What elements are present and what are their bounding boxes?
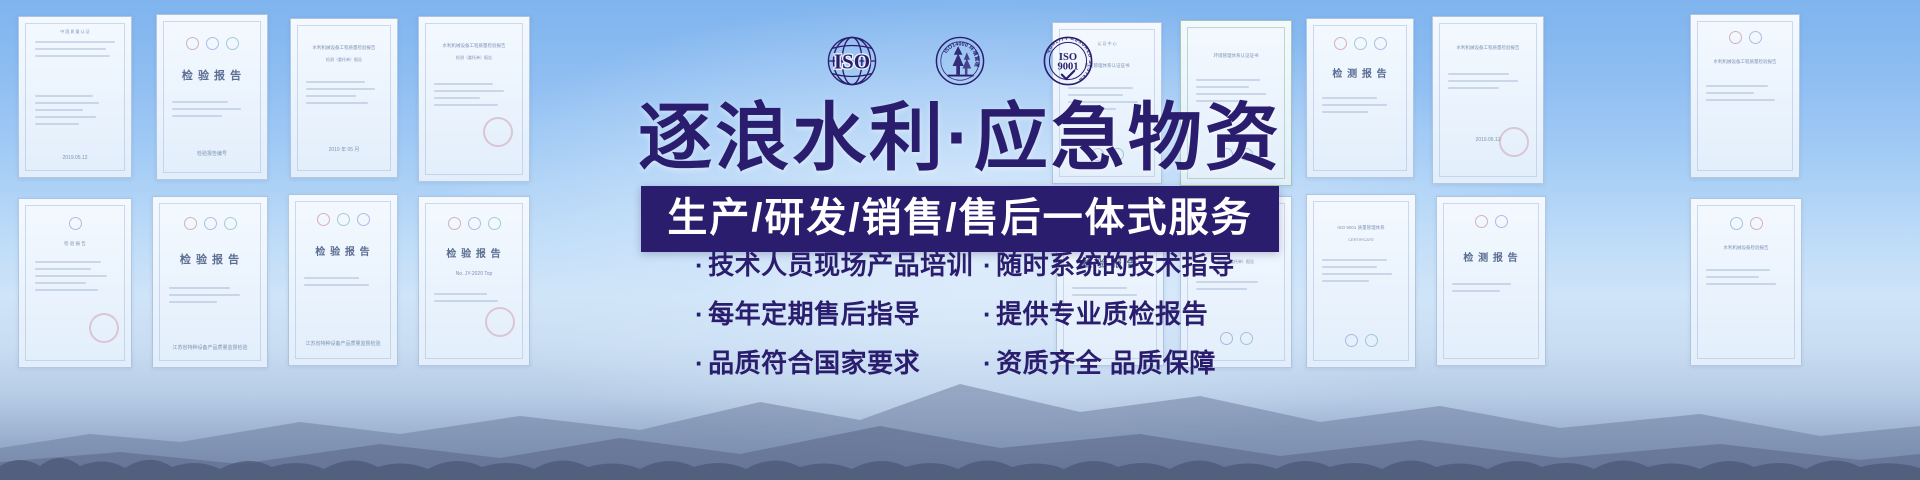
svg-text:ISO: ISO [834,49,870,73]
feature-item: ·技术人员现场产品培训 [695,248,967,282]
feature-label: 技术人员现场产品培训 [708,250,973,280]
feature-item: ·随时系统的技术指导 [983,248,1225,282]
bullet-icon: · [983,299,992,329]
iso-globe-logo-icon: ISO [821,30,883,92]
feature-item: ·每年定期售后指导 [695,297,967,331]
iso9001-quality-seal-logo-icon: QUALITY ASSURED SYSTEM ISO 9001 [1037,30,1099,92]
feature-label: 品质符合国家要求 [708,348,920,378]
bullet-icon: · [695,348,704,378]
svg-text:9001: 9001 [1057,62,1078,73]
iso14000-environment-logo-icon: ISO14000 环境管理 [929,30,991,92]
feature-item: ·品质符合国家要求 [695,346,967,380]
banner-title: 逐浪水利·应急物资 [0,96,1920,180]
bullet-icon: · [983,348,992,378]
feature-item: ·提供专业质检报告 [983,297,1225,331]
banner-subtitle-bar: 生产/研发/销售/售后一体式服务 [0,186,1920,252]
feature-list: ·技术人员现场产品培训 ·随时系统的技术指导 ·每年定期售后指导 ·提供专业质检… [0,248,1920,380]
bullet-icon: · [695,250,704,280]
feature-label: 每年定期售后指导 [708,299,920,329]
feature-label: 随时系统的技术指导 [996,250,1235,280]
certification-logo-row: ISO ISO14000 环境管理 [0,30,1920,92]
bullet-icon: · [695,299,704,329]
banner-subtitle: 生产/研发/销售/售后一体式服务 [641,186,1278,252]
feature-label: 资质齐全 品质保障 [996,348,1216,378]
bullet-icon: · [983,250,992,280]
feature-item: ·资质齐全 品质保障 [983,346,1225,380]
feature-label: 提供专业质检报告 [996,299,1208,329]
promotional-banner: 中 国 质 量 认 证 2019.05.12 检 验 报 告 检验报告编号 水利… [0,0,1920,480]
banner-content: ISO ISO14000 环境管理 [0,0,1920,480]
